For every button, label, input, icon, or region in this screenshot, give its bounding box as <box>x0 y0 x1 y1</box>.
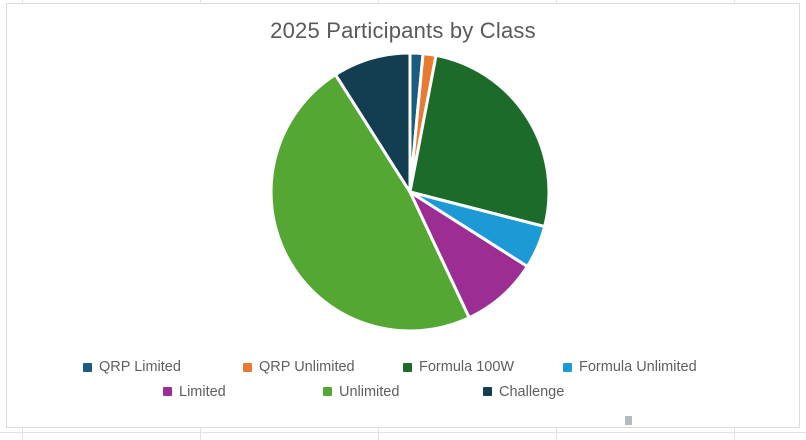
legend-swatch-icon <box>563 363 572 372</box>
legend-item-label: Challenge <box>499 385 564 400</box>
plot-area <box>7 52 801 352</box>
legend-swatch-icon <box>83 363 92 372</box>
grid-row-line <box>0 432 806 433</box>
chart-object-frame[interactable]: 2025 Participants by Class QRP LimitedQR… <box>6 3 800 428</box>
pie-chart[interactable] <box>270 52 550 332</box>
legend-item[interactable]: Limited <box>163 385 323 400</box>
chart-title: 2025 Participants by Class <box>7 18 799 44</box>
legend-swatch-icon <box>403 363 412 372</box>
legend-item[interactable]: Formula 100W <box>403 360 563 375</box>
legend-swatch-icon <box>483 387 492 396</box>
chart-screenshot: 2025 Participants by Class QRP LimitedQR… <box>0 0 806 440</box>
chart-legend: QRP LimitedQRP UnlimitedFormula 100WForm… <box>83 360 723 399</box>
legend-swatch-icon <box>243 363 252 372</box>
legend-item-label: QRP Limited <box>99 360 181 375</box>
legend-item-label: Limited <box>179 385 226 400</box>
legend-item-label: QRP Unlimited <box>259 360 355 375</box>
legend-item[interactable]: QRP Unlimited <box>243 360 403 375</box>
legend-item-label: Formula Unlimited <box>579 360 697 375</box>
legend-item[interactable]: QRP Limited <box>83 360 243 375</box>
legend-item-label: Unlimited <box>339 385 399 400</box>
legend-item[interactable]: Unlimited <box>323 385 483 400</box>
legend-item-label: Formula 100W <box>419 360 514 375</box>
legend-swatch-icon <box>323 387 332 396</box>
cursor-artifact <box>625 416 632 425</box>
legend-swatch-icon <box>163 387 172 396</box>
legend-item[interactable]: Formula Unlimited <box>563 360 723 375</box>
legend-item[interactable]: Challenge <box>483 385 643 400</box>
